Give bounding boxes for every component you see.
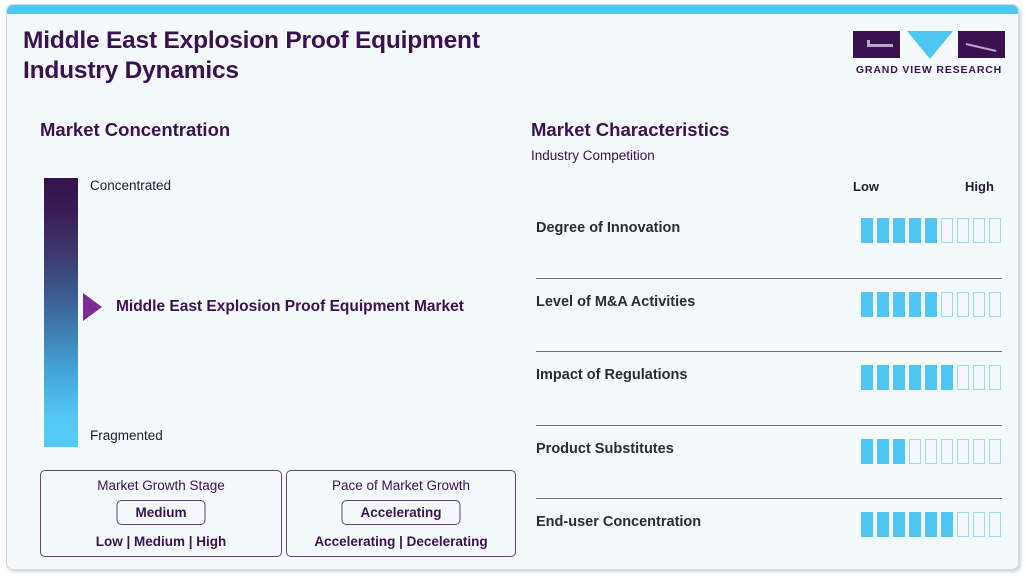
market-growth-stage-box: Market Growth Stage Medium Low | Medium …	[40, 470, 282, 557]
meter-scale-high-label: High	[965, 179, 994, 194]
meter-segment-filled	[877, 512, 890, 537]
meter-segment-empty	[957, 512, 970, 537]
meter-segment-empty	[973, 439, 986, 464]
market-characteristics-subtitle: Industry Competition	[531, 148, 655, 163]
meter-segment-filled	[893, 512, 906, 537]
market-growth-stage-scale: Low | Medium | High	[41, 534, 281, 549]
meter-segment-filled	[861, 292, 874, 317]
market-characteristics-rows: Degree of InnovationLevel of M&A Activit…	[536, 205, 1002, 570]
meter-segment-filled	[877, 292, 890, 317]
meter-segment-filled	[925, 218, 938, 243]
meter-segment-empty	[957, 365, 970, 390]
market-characteristics-title: Market Characteristics	[531, 119, 729, 141]
top-accent-bar	[7, 5, 1018, 14]
characteristic-label: End-user Concentration	[536, 514, 701, 530]
meter-segment-empty	[957, 218, 970, 243]
meter-segment-empty	[941, 292, 954, 317]
characteristic-label: Level of M&A Activities	[536, 294, 695, 310]
meter-segment-empty	[941, 439, 954, 464]
logo-r-icon	[958, 31, 1005, 58]
logo-g-tick	[867, 40, 870, 47]
market-growth-stage-value: Medium	[116, 500, 205, 525]
logo-g-slot	[867, 44, 893, 47]
brand-logo: GRAND VIEW RESEARCH	[853, 27, 1005, 83]
characteristic-row: Degree of Innovation	[536, 205, 1002, 279]
characteristic-meter	[861, 365, 1002, 390]
meter-segment-filled	[893, 365, 906, 390]
logo-marks	[853, 27, 1005, 60]
logo-r-slot	[966, 43, 997, 52]
meter-segment-empty	[989, 218, 1002, 243]
characteristic-label: Degree of Innovation	[536, 220, 680, 236]
market-growth-pace-scale: Accelerating | Decelerating	[287, 534, 515, 549]
meter-segment-empty	[973, 218, 986, 243]
logo-v-icon	[907, 31, 953, 59]
market-position-arrow-icon	[83, 293, 102, 321]
characteristic-row: Level of M&A Activities	[536, 279, 1002, 353]
logo-wordmark: GRAND VIEW RESEARCH	[853, 64, 1005, 76]
meter-segment-filled	[893, 218, 906, 243]
meter-segment-empty	[925, 439, 938, 464]
meter-segment-empty	[973, 365, 986, 390]
meter-segment-filled	[877, 439, 890, 464]
meter-segment-empty	[909, 439, 922, 464]
page-title-line-1: Middle East Explosion Proof Equipment	[23, 26, 643, 56]
meter-segment-filled	[909, 292, 922, 317]
meter-segment-empty	[957, 292, 970, 317]
meter-segment-filled	[893, 292, 906, 317]
market-growth-pace-value: Accelerating	[341, 500, 460, 525]
logo-g-icon	[853, 31, 900, 58]
market-growth-pace-box: Pace of Market Growth Accelerating Accel…	[286, 470, 516, 557]
page-title: Middle East Explosion Proof Equipment In…	[23, 26, 643, 86]
meter-segment-filled	[909, 512, 922, 537]
meter-segment-empty	[941, 218, 954, 243]
meter-segment-filled	[877, 365, 890, 390]
meter-segment-filled	[877, 218, 890, 243]
characteristic-label: Impact of Regulations	[536, 367, 687, 383]
meter-scale-low-label: Low	[853, 179, 879, 194]
meter-segment-empty	[973, 512, 986, 537]
meter-segment-filled	[861, 365, 874, 390]
market-growth-pace-title: Pace of Market Growth	[287, 478, 515, 493]
meter-segment-empty	[989, 365, 1002, 390]
meter-segment-filled	[925, 292, 938, 317]
concentration-gradient-bar	[44, 178, 78, 447]
market-position-label: Middle East Explosion Proof Equipment Ma…	[116, 298, 464, 316]
meter-segment-filled	[893, 439, 906, 464]
meter-segment-filled	[925, 365, 938, 390]
characteristic-meter	[861, 439, 1002, 464]
meter-segment-empty	[973, 292, 986, 317]
meter-segment-filled	[925, 512, 938, 537]
market-growth-stage-title: Market Growth Stage	[41, 478, 281, 493]
meter-segment-filled	[909, 365, 922, 390]
characteristic-row: Product Substitutes	[536, 426, 1002, 500]
meter-segment-filled	[861, 439, 874, 464]
meter-segment-empty	[989, 512, 1002, 537]
infographic-card: Middle East Explosion Proof Equipment In…	[6, 4, 1019, 570]
meter-segment-empty	[957, 439, 970, 464]
meter-segment-filled	[909, 218, 922, 243]
meter-segment-empty	[989, 439, 1002, 464]
characteristic-row: Impact of Regulations	[536, 352, 1002, 426]
market-concentration-title: Market Concentration	[40, 119, 230, 141]
characteristic-meter	[861, 292, 1002, 317]
characteristic-meter	[861, 218, 1002, 243]
page-title-line-2: Industry Dynamics	[23, 56, 643, 86]
concentration-bottom-label: Fragmented	[90, 428, 163, 443]
meter-segment-empty	[989, 292, 1002, 317]
meter-segment-filled	[861, 218, 874, 243]
meter-segment-filled	[861, 512, 874, 537]
characteristic-label: Product Substitutes	[536, 441, 674, 457]
meter-segment-filled	[941, 512, 954, 537]
characteristic-meter	[861, 512, 1002, 537]
meter-segment-filled	[941, 365, 954, 390]
characteristic-row: End-user Concentration	[536, 499, 1002, 570]
concentration-top-label: Concentrated	[90, 178, 171, 193]
